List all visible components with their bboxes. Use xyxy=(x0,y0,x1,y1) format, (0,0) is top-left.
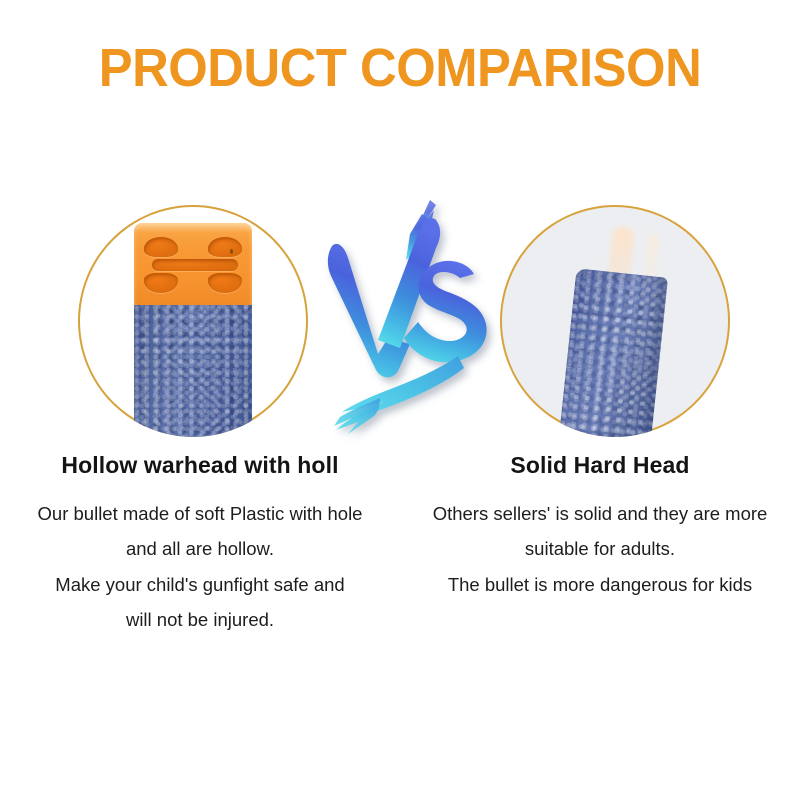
left-heading: Hollow warhead with holl xyxy=(0,452,400,480)
hollow-warhead-bullet xyxy=(134,223,252,437)
product-comparison-page: PRODUCT COMPARISON xyxy=(0,0,800,800)
cavity-center-slot xyxy=(152,259,238,271)
foam-body xyxy=(134,305,252,437)
cavity-top-left xyxy=(144,237,178,257)
cavity-top-right xyxy=(208,237,242,257)
right-line-3: The bullet is more dangerous for kids xyxy=(400,567,800,603)
left-line-2: and all are hollow. xyxy=(0,531,400,567)
solid-head-bullet xyxy=(559,216,688,437)
left-product-panel xyxy=(78,205,308,437)
pin-hole xyxy=(230,249,233,254)
versus-graphic xyxy=(318,198,488,436)
right-product-panel xyxy=(500,205,730,437)
brush-tail-frays xyxy=(334,398,380,434)
versus-strokes xyxy=(328,200,487,434)
right-heading: Solid Hard Head xyxy=(400,452,800,480)
left-line-4: will not be injured. xyxy=(0,602,400,638)
page-title: PRODUCT COMPARISON xyxy=(24,40,776,97)
left-line-1: Our bullet made of soft Plastic with hol… xyxy=(0,496,400,532)
left-product-image xyxy=(78,205,308,437)
left-caption: Hollow warhead with holl Our bullet made… xyxy=(0,452,400,638)
hollow-head xyxy=(134,223,252,307)
right-line-2: suitable for adults. xyxy=(400,531,800,567)
right-caption: Solid Hard Head Others sellers' is solid… xyxy=(400,452,800,602)
cavity-bottom-left xyxy=(144,273,178,293)
left-line-3: Make your child's gunfight safe and xyxy=(0,567,400,603)
foam-body xyxy=(559,268,668,437)
right-product-image xyxy=(500,205,730,437)
right-line-1: Others sellers' is solid and they are mo… xyxy=(400,496,800,532)
cavity-bottom-right xyxy=(208,273,242,293)
